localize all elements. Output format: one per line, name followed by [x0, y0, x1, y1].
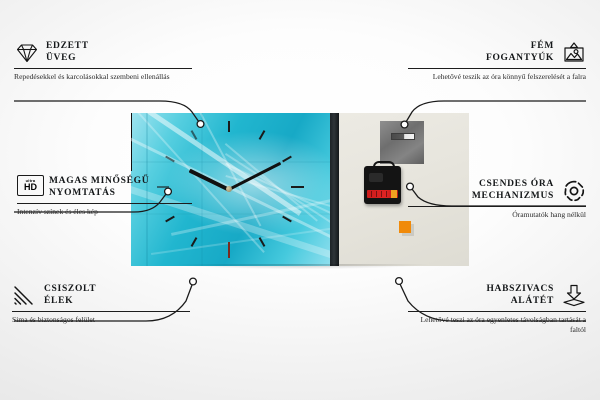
- gear-icon: [561, 178, 586, 203]
- clock-tick: [228, 121, 230, 132]
- metal-hanger-plate: [380, 121, 424, 164]
- feature-metal-handles: FÉM FOGANTYÚK Lehetővé teszik az óra kön…: [408, 40, 586, 82]
- divider: [12, 311, 190, 312]
- battery-terminal: [391, 190, 397, 198]
- feature-title: MAGAS MINŐSÉGŰ NYOMTATÁS: [49, 176, 149, 199]
- feature-tempered-glass: EDZETT ÜVEG Repedésekkel és karcolásokka…: [14, 40, 192, 82]
- hanger-slot: [391, 133, 415, 140]
- mechanism-hanging-loop: [373, 161, 395, 171]
- feature-foam-pad: HABSZIVACS ALÁTÉT Lehetővé teszi az óra …: [408, 283, 586, 334]
- feature-heading: EDZETT ÜVEG: [14, 40, 192, 65]
- feature-heading: HABSZIVACS ALÁTÉT: [408, 283, 586, 308]
- clock-tick: [165, 216, 175, 223]
- feature-title: HABSZIVACS ALÁTÉT: [408, 284, 554, 307]
- ultra-hd-icon: ultra HD: [17, 175, 42, 200]
- feature-title: CSISZOLT ÉLEK: [44, 284, 96, 307]
- divider: [17, 203, 192, 204]
- beveled-edges-icon: [12, 283, 37, 308]
- feature-title: EDZETT ÜVEG: [46, 41, 89, 64]
- feature-polished-edges: CSISZOLT ÉLEK Sima és biztonságos felüle…: [12, 283, 190, 325]
- picture-hanger-icon: [561, 40, 586, 65]
- clock-hour-hand: [189, 169, 230, 192]
- product-shadow: [129, 264, 473, 276]
- mechanism-shaft: [369, 173, 383, 182]
- feature-heading: CSENDES ÓRA MECHANIZMUS: [408, 178, 586, 203]
- battery: [367, 190, 398, 198]
- clock-tick: [291, 186, 304, 188]
- feature-title: CSENDES ÓRA MECHANIZMUS: [408, 179, 554, 202]
- clock-tick: [191, 237, 198, 247]
- divider: [408, 311, 586, 312]
- feature-high-quality-print: ultra HD MAGAS MINŐSÉGŰ NYOMTATÁS Intenz…: [17, 175, 192, 217]
- infographic-canvas: EDZETT ÜVEG Repedésekkel és karcolásokka…: [0, 0, 600, 400]
- feature-title: FÉM FOGANTYÚK: [408, 41, 554, 64]
- clock-side-edge: [330, 113, 339, 266]
- feature-silent-mechanism: CSENDES ÓRA MECHANIZMUS Óramutatók hang …: [408, 178, 586, 220]
- clock-mechanism: [364, 166, 401, 204]
- diamond-icon: [14, 40, 39, 65]
- feature-heading: CSISZOLT ÉLEK: [12, 283, 190, 308]
- foam-pad-sample: [399, 221, 411, 233]
- clock-tick: [259, 130, 266, 140]
- divider: [408, 206, 586, 207]
- clock-center-cap: [226, 186, 232, 192]
- feature-heading: ultra HD MAGAS MINŐSÉGŰ NYOMTATÁS: [17, 175, 192, 200]
- clock-second-hand-tip: [228, 242, 229, 254]
- divider: [408, 68, 586, 69]
- feature-heading: FÉM FOGANTYÚK: [408, 40, 586, 65]
- divider: [14, 68, 192, 69]
- foam-pad-icon: [561, 283, 586, 308]
